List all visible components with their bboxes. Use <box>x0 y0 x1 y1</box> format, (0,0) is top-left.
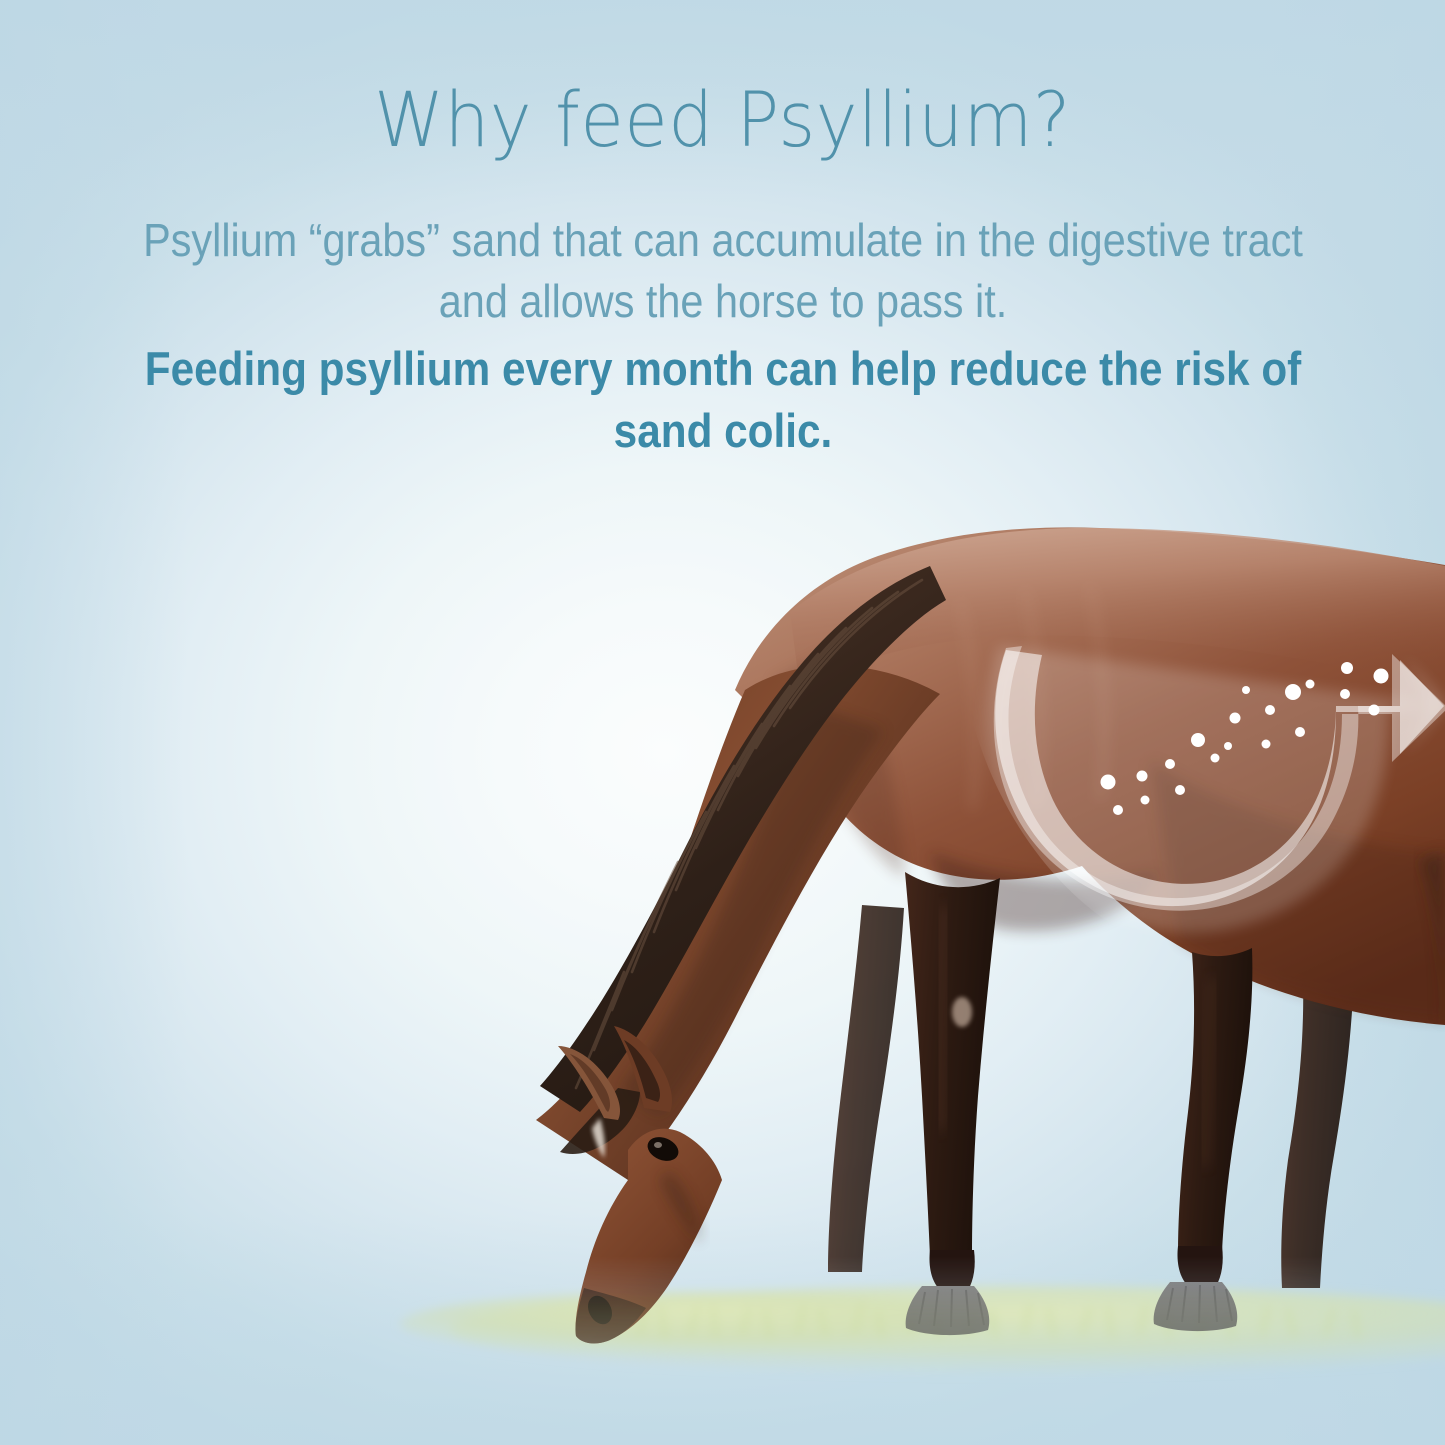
hoof-front <box>906 1286 990 1335</box>
sand-dot <box>1165 759 1175 769</box>
sand-dot <box>1101 775 1116 790</box>
sand-dot <box>1295 727 1305 737</box>
sand-dot <box>1374 669 1389 684</box>
front-leg-far <box>828 905 904 1272</box>
eye-glint <box>654 1142 662 1148</box>
sand-dot <box>1341 662 1353 674</box>
sand-dot <box>1340 689 1350 699</box>
sand-dot <box>1141 796 1150 805</box>
sand-dot <box>1369 705 1380 716</box>
emphasis-copy: Feeding psyllium every month can help re… <box>120 332 1326 462</box>
sand-dot <box>1230 713 1241 724</box>
sand-dot <box>1211 754 1220 763</box>
psyllium-infographic-poster: Why feed Psyllium? Psyllium “grabs” sand… <box>0 0 1445 1445</box>
sand-dot <box>1242 686 1250 694</box>
sand-dot <box>1113 805 1123 815</box>
sand-dot <box>1191 733 1205 747</box>
horse <box>536 527 1445 1343</box>
fetlock-front <box>929 1250 974 1290</box>
sand-dot <box>1224 742 1232 750</box>
text-block: Why feed Psyllium? Psyllium “grabs” sand… <box>0 0 1445 462</box>
body-copy: Psyllium “grabs” sand that can accumulat… <box>142 158 1303 332</box>
sand-dot <box>1285 684 1301 700</box>
front-leg-near <box>905 872 1000 1256</box>
sand-dot <box>1306 680 1315 689</box>
sand-dot <box>1265 705 1275 715</box>
chestnut-marking <box>952 997 972 1027</box>
hoof-hind <box>1154 1282 1238 1331</box>
sand-dot <box>1137 771 1148 782</box>
sand-dot <box>1175 785 1185 795</box>
sand-dot <box>1262 740 1271 749</box>
page-title: Why feed Psyllium? <box>51 0 1395 158</box>
fetlock-hind <box>1177 1246 1222 1286</box>
